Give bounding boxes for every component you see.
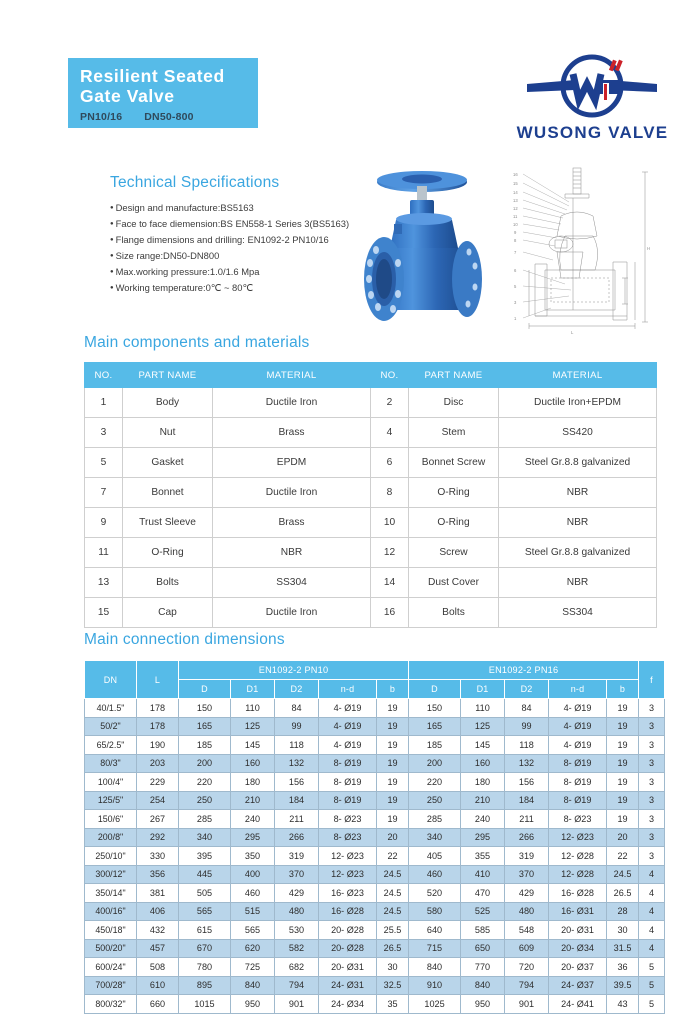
table-cell: 480 [275,902,319,921]
dn-cell: 600/24" [85,958,137,977]
product-title-box: Resilient Seated Gate Valve PN10/16DN50-… [68,58,258,128]
table-cell: 725 [231,958,275,977]
table-row: 200/8"2923402952668- Ø232034029526612- Ø… [85,828,665,847]
table-cell: 20 [377,828,409,847]
table-cell: 16- Ø23 [319,884,377,903]
table-cell: Bolts [409,598,499,628]
table-cell: 19 [377,773,409,792]
table-cell: O-Ring [409,508,499,538]
dn-cell: 450/18" [85,921,137,940]
col-l: L [137,661,179,699]
svg-text:10: 10 [513,222,518,227]
table-cell: 26.5 [607,884,639,903]
table-cell: 190 [137,736,179,755]
table-row: 600/24"50878072568220- Ø313084077072020-… [85,958,665,977]
table-cell: 720 [505,958,549,977]
table-cell: 8 [371,478,409,508]
dn-cell: 40/1.5" [85,699,137,718]
table-cell: 285 [409,810,461,829]
table-row: 450/18"43261556553020- Ø2825.56405855482… [85,921,665,940]
table-cell: 8- Ø23 [319,810,377,829]
table-row: 65/2.5"1901851451184- Ø19191851451184- Ø… [85,736,665,755]
table-cell: Bolts [123,568,213,598]
table-cell: 250 [409,791,461,810]
table-cell: 582 [275,939,319,958]
table-cell: 640 [409,921,461,940]
table-cell: 84 [275,699,319,718]
product-title-line1: Resilient Seated [80,66,258,86]
table-cell: 356 [137,865,179,884]
table-cell: 125 [231,717,275,736]
table-cell: 8- Ø19 [549,791,607,810]
svg-text:14: 14 [513,190,518,195]
table-cell: 3 [639,699,665,718]
size-range-badge: DN50-800 [144,111,193,123]
col-pn10-d: D [179,680,231,699]
table-cell: 19 [607,736,639,755]
table-row: 80/3"2032001601328- Ø19192001601328- Ø19… [85,754,665,773]
table-cell: 35 [377,995,409,1014]
table-row: 400/16"40656551548016- Ø2824.55805254801… [85,902,665,921]
table-cell: 4 [639,939,665,958]
product-photo [336,162,506,340]
table-cell: 609 [505,939,549,958]
table-row: 250/10"33039535031912- Ø232240535531912-… [85,847,665,866]
dn-cell: 50/2" [85,717,137,736]
table-cell: 6 [371,448,409,478]
table-cell: 432 [137,921,179,940]
table-row: 700/28"61089584079424- Ø3132.59108407942… [85,976,665,995]
table-cell: 8- Ø19 [549,754,607,773]
table-cell: 185 [179,736,231,755]
table-cell: 145 [461,736,505,755]
table-cell: 3 [639,773,665,792]
table-cell: 480 [505,902,549,921]
table-cell: Nut [123,418,213,448]
table-cell: 84 [505,699,549,718]
table-cell: 3 [639,754,665,773]
svg-text:8: 8 [514,238,517,243]
table-cell: 520 [409,884,461,903]
table-cell: 3 [639,847,665,866]
table-cell: 525 [461,902,505,921]
table-cell: 901 [505,995,549,1014]
table-cell: 4 [639,902,665,921]
dn-cell: 350/14" [85,884,137,903]
dn-cell: 125/5" [85,791,137,810]
table-cell: 794 [505,976,549,995]
col-pn16-b: b [607,680,639,699]
col-pn10-nd: n-d [319,680,377,699]
table-cell: 429 [505,884,549,903]
table-cell: 5 [639,995,665,1014]
table-cell: 210 [461,791,505,810]
table-cell: 24- Ø31 [319,976,377,995]
table-cell: 12- Ø28 [549,847,607,866]
table-cell: 99 [275,717,319,736]
table-cell: 285 [179,810,231,829]
col-material-2: MATERIAL [499,363,657,388]
table-row: 13BoltsSS30414Dust CoverNBR [85,568,657,598]
table-cell: 178 [137,699,179,718]
table-cell: 229 [137,773,179,792]
table-cell: 145 [231,736,275,755]
svg-text:1: 1 [514,316,517,321]
table-cell: 20 [607,828,639,847]
pressure-rating: PN10/16 [80,111,122,123]
specs-heading: Technical Specifications [110,174,279,192]
table-cell: 405 [409,847,461,866]
table-cell: Bonnet Screw [409,448,499,478]
table-cell: 3 [639,828,665,847]
table-cell: 110 [231,699,275,718]
table-cell: Brass [213,418,371,448]
table-cell: 460 [231,884,275,903]
table-cell: 4- Ø19 [549,736,607,755]
table-cell: 8- Ø19 [549,773,607,792]
table-cell: 895 [179,976,231,995]
table-cell: 19 [607,810,639,829]
table-cell: 4- Ø19 [319,699,377,718]
dn-cell: 150/6" [85,810,137,829]
table-cell: 200 [409,754,461,773]
table-cell: Cap [123,598,213,628]
table-cell: 4 [371,418,409,448]
table-cell: O-Ring [123,538,213,568]
table-row: 150/6"2672852402118- Ø23192852402118- Ø2… [85,810,665,829]
table-cell: 910 [409,976,461,995]
table-cell: 530 [275,921,319,940]
table-cell: 4 [639,921,665,940]
table-cell: 266 [505,828,549,847]
dn-cell: 200/8" [85,828,137,847]
table-cell: 12- Ø23 [549,828,607,847]
col-pn16-d1: D1 [461,680,505,699]
svg-text:13: 13 [513,198,518,203]
table-cell: 36 [607,958,639,977]
svg-text:15: 15 [513,181,518,186]
dimensions-heading: Main connection dimensions [84,631,285,649]
table-cell: 200 [179,754,231,773]
table-cell: 24.5 [607,865,639,884]
table-row: 40/1.5"178150110844- Ø1919150110844- Ø19… [85,699,665,718]
table-cell: 20- Ø34 [549,939,607,958]
table-cell: 3 [85,418,123,448]
table-cell: 5 [639,958,665,977]
table-cell: 650 [461,939,505,958]
table-cell: 125 [461,717,505,736]
table-row: 800/32"660101595090124- Ø343510259509012… [85,995,665,1014]
table-cell: Body [123,388,213,418]
table-cell: 39.5 [607,976,639,995]
table-cell: 12- Ø23 [319,847,377,866]
table-cell: 24- Ø41 [549,995,607,1014]
table-cell: 445 [179,865,231,884]
table-cell: 220 [409,773,461,792]
table-cell: 9 [85,508,123,538]
table-cell: 350 [231,847,275,866]
table-cell: 19 [377,791,409,810]
table-cell: 240 [461,810,505,829]
table-cell: 5 [85,448,123,478]
table-cell: 355 [461,847,505,866]
table-cell: 24.5 [377,884,409,903]
table-cell: 160 [461,754,505,773]
table-cell: 840 [231,976,275,995]
table-cell: 11 [85,538,123,568]
table-cell: 460 [409,865,461,884]
table-row: 5GasketEPDM6Bonnet ScrewSteel Gr.8.8 gal… [85,448,657,478]
table-row: 500/20"45767062058220- Ø2826.57156506092… [85,939,665,958]
table-cell: 150 [179,699,231,718]
table-cell: 30 [377,958,409,977]
components-heading: Main components and materials [84,334,310,352]
col-no-1: NO. [85,363,123,388]
table-cell: 19 [607,754,639,773]
table-cell: 585 [461,921,505,940]
table-cell: 185 [409,736,461,755]
dn-cell: 500/20" [85,939,137,958]
table-cell: Ductile Iron [213,388,371,418]
datasheet-page: Resilient Seated Gate Valve PN10/16DN50-… [0,0,700,989]
svg-text:11: 11 [513,214,518,219]
table-cell: 160 [231,754,275,773]
table-cell: 610 [137,976,179,995]
col-part-2: PART NAME [409,363,499,388]
table-cell: 8- Ø23 [319,828,377,847]
table-row: 300/12"35644540037012- Ø2324.54604103701… [85,865,665,884]
table-cell: 19 [607,717,639,736]
table-cell: SS420 [499,418,657,448]
table-cell: 28 [607,902,639,921]
dn-cell: 65/2.5" [85,736,137,755]
col-pn16-d2: D2 [505,680,549,699]
table-cell: Steel Gr.8.8 galvanized [499,538,657,568]
table-cell: Ductile Iron [213,478,371,508]
table-cell: EPDM [213,448,371,478]
dimensions-group-header-row: DN L EN1092-2 PN10 EN1092-2 PN16 f [85,661,665,680]
table-cell: 156 [275,773,319,792]
table-cell: 400 [231,865,275,884]
table-cell: 10 [371,508,409,538]
table-cell: 13 [85,568,123,598]
svg-text:3: 3 [514,300,517,305]
table-cell: Bonnet [123,478,213,508]
table-cell: Ductile Iron [213,598,371,628]
table-cell: 4- Ø19 [319,736,377,755]
table-cell: Ductile Iron+EPDM [499,388,657,418]
table-cell: Steel Gr.8.8 galvanized [499,448,657,478]
table-cell: 24- Ø37 [549,976,607,995]
table-cell: 295 [461,828,505,847]
brand-name: WUSONG VALVE [505,123,680,143]
table-cell: 22 [607,847,639,866]
table-cell: 292 [137,828,179,847]
components-header-row: NO. PART NAME MATERIAL NO. PART NAME MAT… [85,363,657,388]
table-cell: 24.5 [377,902,409,921]
table-cell: 32.5 [377,976,409,995]
table-cell: 211 [505,810,549,829]
table-cell: 25.5 [377,921,409,940]
table-cell: 406 [137,902,179,921]
table-cell: 901 [275,995,319,1014]
table-row: 1BodyDuctile Iron2DiscDuctile Iron+EPDM [85,388,657,418]
table-cell: 410 [461,865,505,884]
table-cell: 118 [275,736,319,755]
table-row: 50/2"178165125994- Ø1919165125994- Ø1919… [85,717,665,736]
table-cell: 12- Ø28 [549,865,607,884]
svg-text:16: 16 [513,172,518,177]
table-cell: 4- Ø19 [319,717,377,736]
table-cell: 132 [505,754,549,773]
table-cell: 5 [639,976,665,995]
table-row: 9Trust SleeveBrass10O-RingNBR [85,508,657,538]
table-cell: 840 [409,958,461,977]
table-cell: 508 [137,958,179,977]
table-cell: 211 [275,810,319,829]
col-pn10-d1: D1 [231,680,275,699]
table-cell: 254 [137,791,179,810]
table-cell: O-Ring [409,478,499,508]
table-cell: 180 [231,773,275,792]
table-cell: 184 [275,791,319,810]
col-no-2: NO. [371,363,409,388]
table-cell: 19 [377,699,409,718]
table-cell: 165 [409,717,461,736]
table-cell: 250 [179,791,231,810]
table-cell: 14 [371,568,409,598]
table-row: 3NutBrass4StemSS420 [85,418,657,448]
dn-cell: 800/32" [85,995,137,1014]
col-pn10-b: b [377,680,409,699]
col-part-1: PART NAME [123,363,213,388]
table-cell: 794 [275,976,319,995]
table-cell: 16- Ø28 [549,884,607,903]
table-cell: 178 [137,717,179,736]
dn-cell: 300/12" [85,865,137,884]
table-cell: 16- Ø28 [319,902,377,921]
table-row: 11O-RingNBR12ScrewSteel Gr.8.8 galvanize… [85,538,657,568]
table-cell: 620 [231,939,275,958]
table-cell: 24.5 [377,865,409,884]
dn-cell: 100/4" [85,773,137,792]
table-cell: 950 [231,995,275,1014]
table-cell: 22 [377,847,409,866]
table-cell: Screw [409,538,499,568]
table-cell: 330 [137,847,179,866]
table-cell: 19 [377,810,409,829]
col-material-1: MATERIAL [213,363,371,388]
table-cell: 381 [137,884,179,903]
table-cell: 370 [505,865,549,884]
product-title-line2: Gate Valve [80,86,258,106]
table-cell: 8- Ø19 [319,773,377,792]
table-cell: 20- Ø28 [319,939,377,958]
group-pn10: EN1092-2 PN10 [179,661,409,680]
table-cell: 319 [275,847,319,866]
table-cell: 615 [179,921,231,940]
table-cell: 660 [137,995,179,1014]
svg-text:H: H [647,246,650,251]
group-pn16: EN1092-2 PN16 [409,661,639,680]
table-cell: 150 [409,699,461,718]
table-cell: 7 [85,478,123,508]
table-cell: 156 [505,773,549,792]
table-cell: 24- Ø34 [319,995,377,1014]
table-cell: 184 [505,791,549,810]
table-cell: Dust Cover [409,568,499,598]
table-cell: 2 [371,388,409,418]
dn-cell: 250/10" [85,847,137,866]
table-cell: 1025 [409,995,461,1014]
table-cell: 180 [461,773,505,792]
table-cell: 395 [179,847,231,866]
svg-text:7: 7 [514,250,517,255]
table-cell: 20- Ø31 [319,958,377,977]
table-cell: 12 [371,538,409,568]
table-cell: 470 [461,884,505,903]
table-cell: 3 [639,810,665,829]
table-cell: NBR [499,568,657,598]
table-cell: 340 [179,828,231,847]
dimensions-table: DN L EN1092-2 PN10 EN1092-2 PN16 f D D1 … [84,660,665,1014]
table-cell: 118 [505,736,549,755]
table-cell: 20- Ø37 [549,958,607,977]
table-cell: 20- Ø28 [319,921,377,940]
table-row: 100/4"2292201801568- Ø19192201801568- Ø1… [85,773,665,792]
table-row: 125/5"2542502101848- Ø19192502101848- Ø1… [85,791,665,810]
table-cell: 31.5 [607,939,639,958]
svg-text:9: 9 [514,230,517,235]
table-cell: Gasket [123,448,213,478]
table-cell: 15 [85,598,123,628]
table-cell: Stem [409,418,499,448]
table-cell: 267 [137,810,179,829]
table-cell: Brass [213,508,371,538]
table-cell: 340 [409,828,461,847]
table-cell: 3 [639,791,665,810]
table-cell: 295 [231,828,275,847]
table-cell: 19 [377,736,409,755]
table-cell: 26.5 [377,939,409,958]
table-cell: Trust Sleeve [123,508,213,538]
table-row: 350/14"38150546042916- Ø2324.55204704291… [85,884,665,903]
table-cell: 20- Ø31 [549,921,607,940]
svg-text:6: 6 [514,268,517,273]
table-cell: 429 [275,884,319,903]
table-cell: 19 [607,699,639,718]
table-cell: 780 [179,958,231,977]
table-cell: NBR [213,538,371,568]
col-dn: DN [85,661,137,699]
table-cell: 682 [275,958,319,977]
table-cell: 457 [137,939,179,958]
table-cell: 99 [505,717,549,736]
svg-text:L: L [571,330,574,335]
table-cell: SS304 [499,598,657,628]
dn-cell: 700/28" [85,976,137,995]
table-cell: SS304 [213,568,371,598]
table-cell: 840 [461,976,505,995]
table-cell: 8- Ø19 [319,791,377,810]
col-pn10-d2: D2 [275,680,319,699]
svg-text:5: 5 [514,284,517,289]
table-cell: 4- Ø19 [549,717,607,736]
table-cell: 565 [179,902,231,921]
wusong-emblem-icon [505,52,680,127]
table-cell: 319 [505,847,549,866]
table-cell: 370 [275,865,319,884]
